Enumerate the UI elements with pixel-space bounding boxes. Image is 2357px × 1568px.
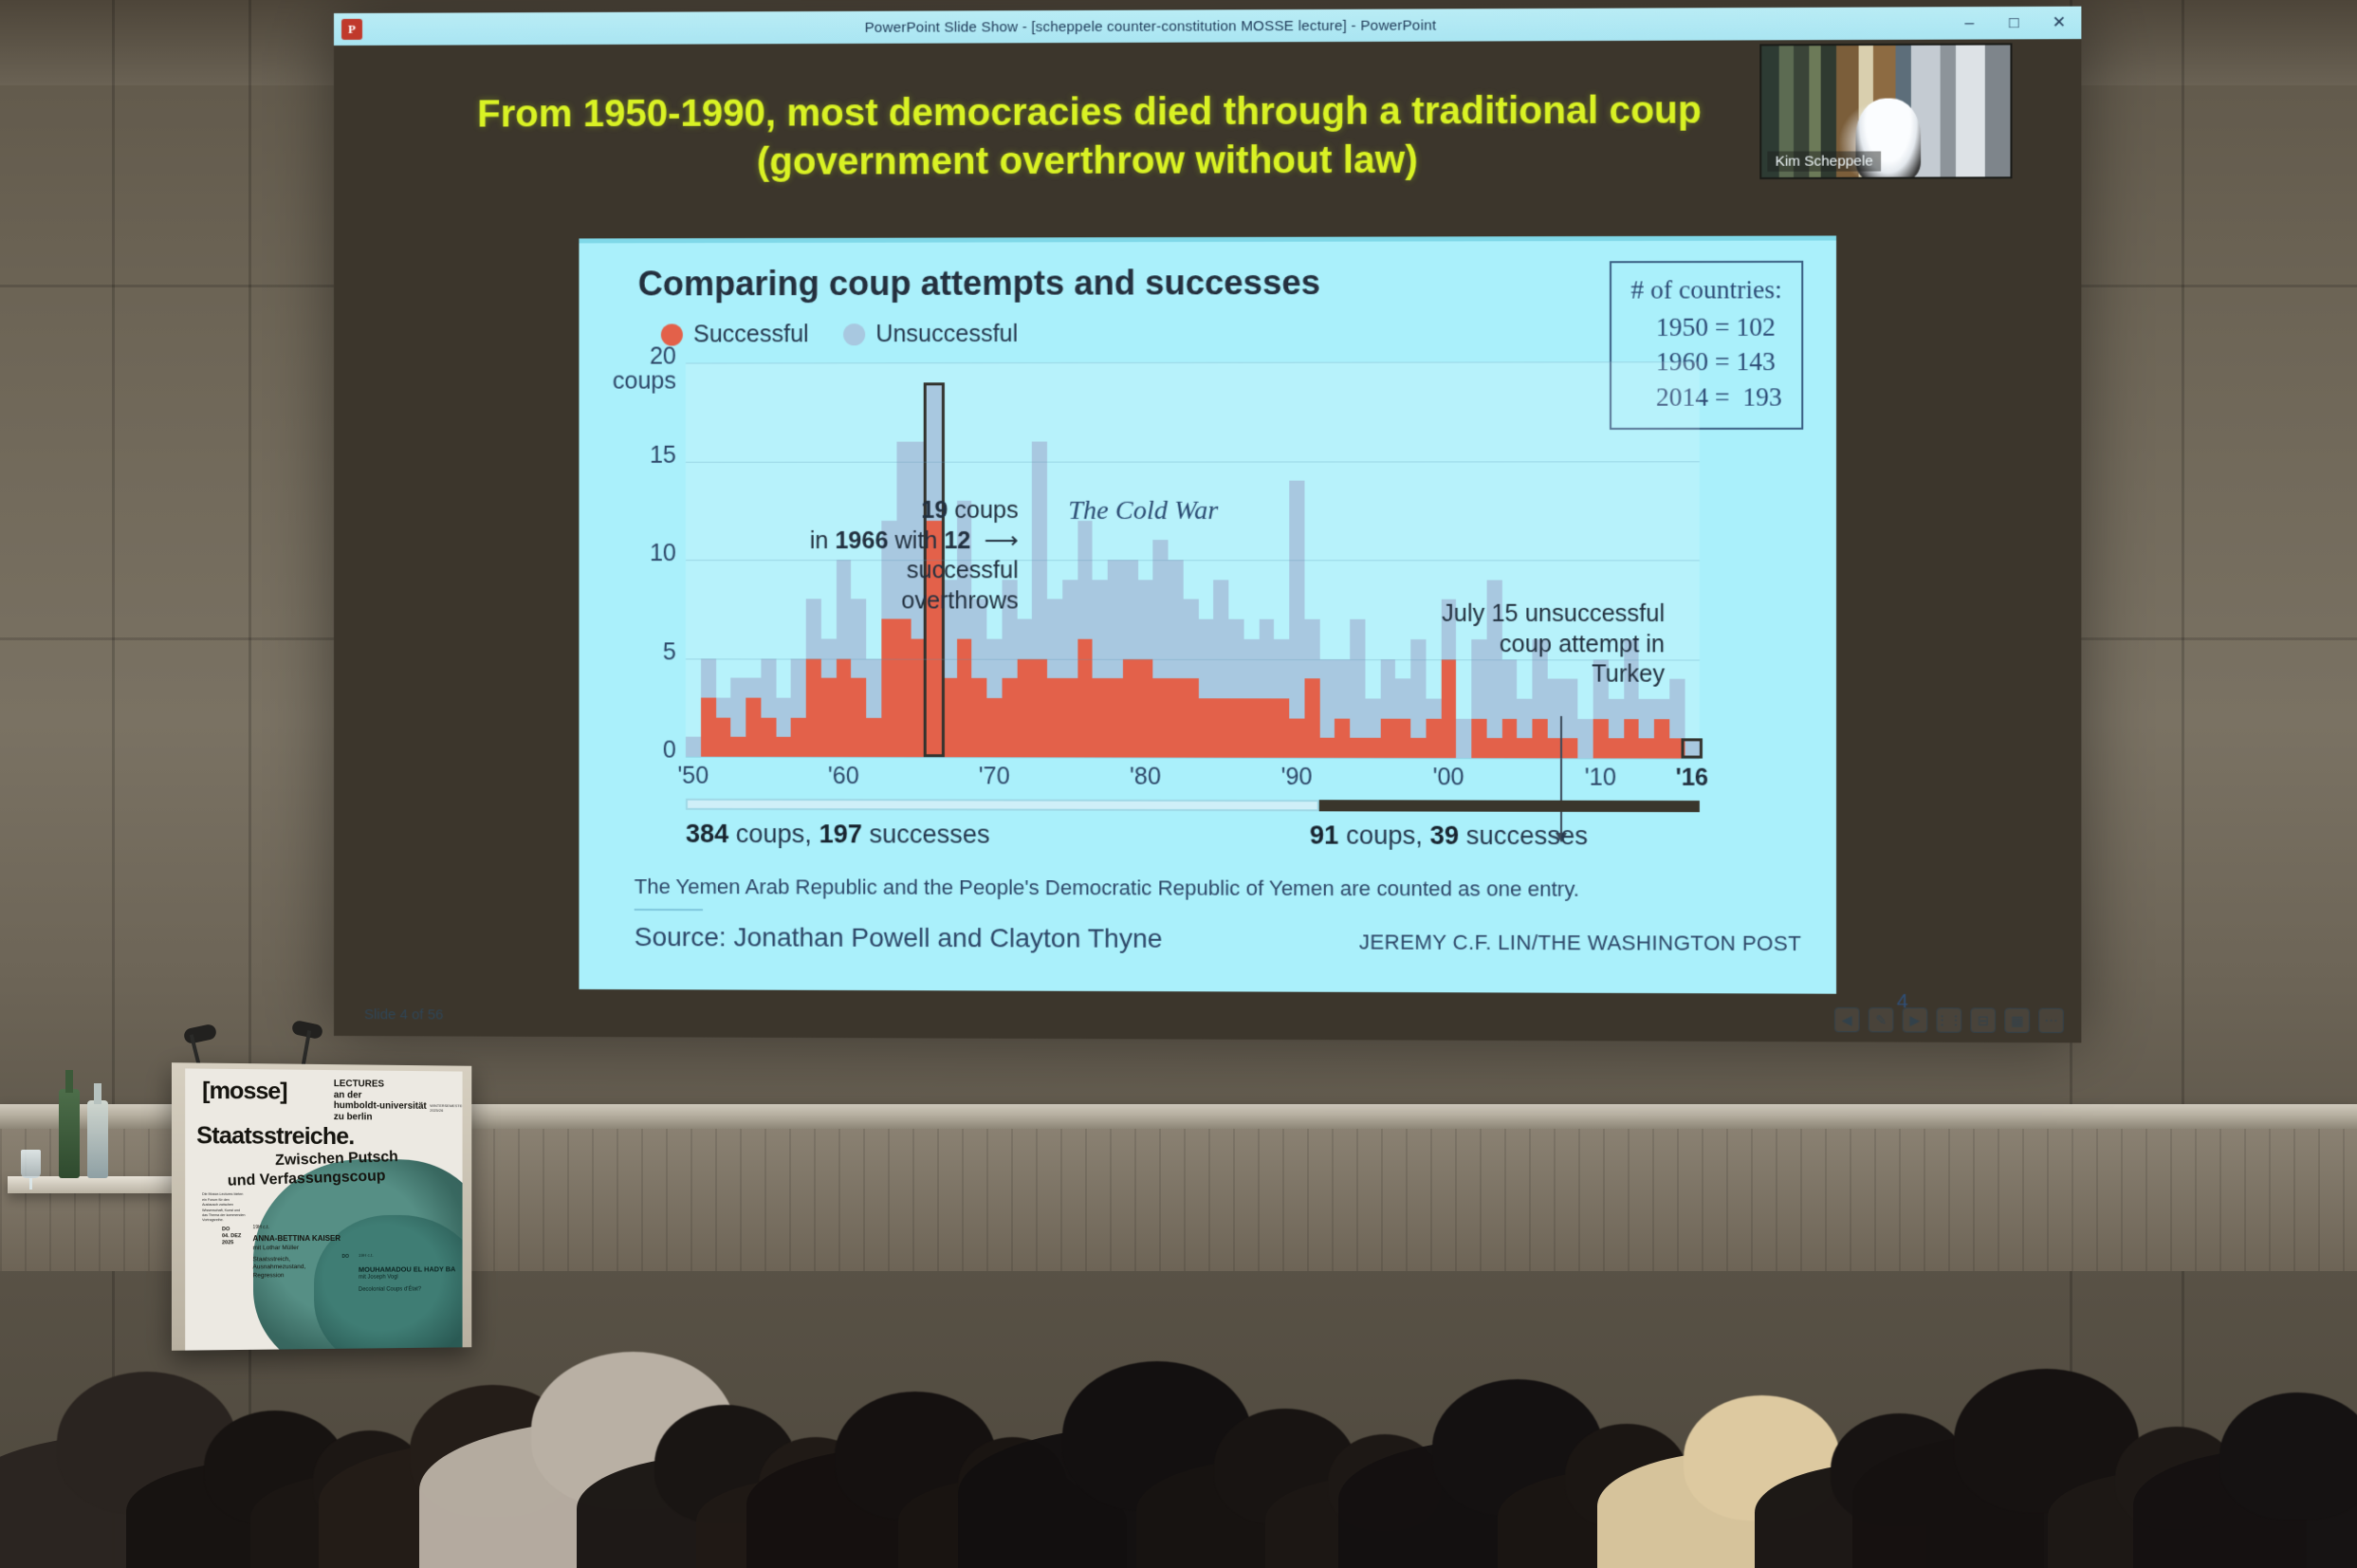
bar-successful	[1017, 658, 1032, 757]
bar-successful	[1609, 739, 1624, 759]
slide-counter: Slide 4 of 56	[364, 1006, 443, 1023]
poster-lectures-line: LECTURES an der humboldt-universität zu …	[334, 1079, 427, 1124]
bar-successful	[866, 717, 881, 757]
bar-successful	[971, 678, 986, 757]
poster-headline: Staatsstreiche.	[196, 1122, 354, 1151]
bar-unsuccessful	[1578, 719, 1593, 759]
bar-successful	[881, 619, 896, 758]
bar-successful	[1501, 718, 1517, 758]
x-axis-tick: '00	[1432, 764, 1464, 791]
bar-successful	[1259, 698, 1274, 758]
bar-successful	[1032, 658, 1047, 757]
poster-event2-topic: Decolonial Coups d'État?	[359, 1287, 421, 1293]
bar-successful	[1410, 738, 1426, 758]
bar-successful	[1002, 678, 1017, 757]
slide-grid-button[interactable]: ▦	[2004, 1008, 2030, 1033]
poster-semester: WINTERSEMESTER 2025/26	[430, 1104, 462, 1114]
bar-successful	[1108, 678, 1123, 757]
bar-successful	[896, 619, 911, 758]
bottle	[87, 1100, 108, 1178]
bar-successful	[730, 737, 746, 757]
bar-unsuccessful	[1289, 481, 1304, 758]
zoom-out-button[interactable]: ⊟	[1970, 1007, 1996, 1032]
x-axis-tick: '16	[1676, 765, 1708, 792]
poster-blurb: Die Mosse-Lectures bieten ein Forum für …	[202, 1192, 248, 1224]
bar-successful	[1624, 719, 1639, 759]
poster-event2-date: DO	[341, 1254, 348, 1261]
bar-successful	[851, 678, 866, 757]
poster-event1-moderator: mit Lothar Müller	[253, 1245, 300, 1251]
x-axis-tick: '90	[1281, 764, 1313, 791]
bar-successful	[1213, 698, 1228, 758]
poster-event2-moderator: mit Joseph Vogl	[359, 1275, 398, 1281]
bar-successful	[1471, 718, 1486, 758]
speaker-name-label: Kim Scheppele	[1767, 151, 1881, 172]
era-statistics: 384 coups, 197 successes 91 coups, 39 su…	[686, 820, 1700, 857]
x-axis-tick: '70	[979, 763, 1010, 790]
x-axis-tick: '80	[1130, 764, 1161, 791]
slide-menu-button[interactable]: ⋮⋮	[1937, 1007, 1962, 1032]
bar-successful	[957, 638, 972, 757]
y-axis-tick: 0	[584, 737, 675, 762]
more-options-button[interactable]: ⋯	[2038, 1008, 2064, 1033]
slideshow-control-bar[interactable]: ◀ ✎ ▶ ⋮⋮ ⊟ ▦ ⋯	[1834, 1007, 2064, 1033]
bar-successful	[1380, 718, 1395, 758]
bar-successful	[1138, 658, 1153, 757]
bar-successful	[1532, 718, 1547, 758]
era-label-right: 91 coups, 39 successes	[1310, 821, 1588, 851]
webcam-picture-in-picture[interactable]: Kim Scheppele	[1759, 43, 2012, 179]
glass-stem	[29, 1178, 32, 1190]
bar-successful	[701, 697, 716, 756]
bar-successful	[1335, 718, 1350, 758]
wall-panel-divider	[112, 0, 115, 1568]
bar-successful	[1517, 738, 1532, 758]
bar-successful	[716, 717, 731, 757]
wall-panel-divider	[2182, 0, 2184, 1568]
bar-successful	[1319, 738, 1335, 758]
bar-successful	[1183, 678, 1198, 757]
bar-unsuccessful	[686, 737, 701, 757]
x-axis: '50'60'70'80'90'00'10'16	[686, 763, 1700, 797]
event-poster: [mosse] LECTURES an der humboldt-univers…	[185, 1068, 462, 1350]
bar-successful	[1639, 739, 1654, 759]
bar-successful	[1123, 658, 1138, 757]
bottle-neck	[94, 1083, 101, 1104]
chart-card: Comparing coup attempts and successes Su…	[579, 235, 1836, 993]
projection-screen: P PowerPoint Slide Show - [scheppele cou…	[334, 7, 2081, 1043]
era-bar-post-cold-war	[1319, 800, 1700, 812]
chart-footnote: The Yemen Arab Republic and the People's…	[635, 875, 1579, 902]
lectern-podium: [mosse] LECTURES an der humboldt-univers…	[172, 1062, 471, 1351]
bar-successful	[821, 678, 837, 757]
bar-successful	[1198, 698, 1213, 758]
drinking-glass	[21, 1150, 41, 1178]
bar-successful	[1077, 639, 1093, 758]
maximize-button[interactable]: □	[1992, 7, 2036, 40]
x-axis-tick: '50	[677, 763, 709, 790]
bar-unsuccessful	[1685, 739, 1700, 759]
close-button[interactable]: ✕	[2036, 7, 2081, 40]
poster-event2-time: 19H c.t.	[359, 1252, 374, 1257]
bar-successful	[1228, 698, 1243, 758]
poster-event1-date: DO 04. DEZ 2025	[222, 1227, 241, 1247]
chart-credit: JEREMY C.F. LIN/THE WASHINGTON POST	[1359, 930, 1801, 956]
x-axis-tick: '10	[1585, 764, 1616, 791]
bar-successful	[761, 717, 776, 757]
minimize-button[interactable]: –	[1947, 7, 1992, 40]
bar-successful	[942, 678, 957, 757]
footnote-divider	[635, 909, 703, 911]
bar-successful	[1669, 739, 1685, 759]
x-axis-tick: '60	[828, 763, 859, 790]
bar-successful	[1426, 718, 1441, 758]
poster-brand: [mosse]	[202, 1078, 286, 1106]
plot-area: 19 coupsin 1966 with 12 ⟶successfulovert…	[686, 361, 1700, 758]
bar-successful	[1289, 718, 1304, 758]
powerpoint-icon: P	[341, 19, 362, 40]
y-axis: 20coups151050	[584, 360, 675, 759]
bar-successful	[1486, 738, 1501, 758]
poster-event2-speaker: MOUHAMADOU EL HADY BA	[359, 1264, 455, 1273]
y-axis-tick: 10	[584, 541, 675, 565]
bar-successful	[1654, 719, 1669, 759]
slide-heading: From 1950-1990, most democracies died th…	[419, 86, 1760, 188]
bar-successful	[791, 717, 806, 757]
bar-successful	[1365, 738, 1380, 758]
side-table	[8, 1176, 174, 1193]
bottle-neck	[65, 1070, 73, 1093]
bar-successful	[1304, 678, 1319, 757]
bar-unsuccessful	[1350, 619, 1365, 758]
bar-successful	[746, 697, 761, 756]
slide-canvas[interactable]: From 1950-1990, most democracies died th…	[334, 39, 2081, 1042]
window-title: PowerPoint Slide Show - [scheppele count…	[362, 15, 1947, 38]
annotation-turkey: July 15 unsuccessful coup attempt in Tur…	[1423, 600, 1665, 691]
era-bar-cold-war	[686, 799, 1319, 812]
chart-source: Source: Jonathan Powell and Clayton Thyn…	[635, 922, 1163, 954]
bar-successful	[911, 638, 927, 757]
bar-successful	[1274, 698, 1289, 758]
bar-successful	[806, 658, 821, 757]
annotation-1966: 19 coupsin 1966 with 12 ⟶successfulovert…	[799, 496, 1019, 617]
bar-successful	[1169, 678, 1184, 757]
bar-successful	[1153, 678, 1169, 757]
bar-successful	[1243, 698, 1259, 758]
bar-successful	[1593, 719, 1609, 759]
era-label-left: 384 coups, 197 successes	[686, 820, 990, 850]
y-axis-tick: 20coups	[584, 343, 675, 394]
bar-successful	[776, 737, 791, 757]
poster-event1-time: 19H c.t.	[253, 1225, 269, 1230]
cold-war-label: The Cold War	[1068, 496, 1218, 526]
source-credit-row: Source: Jonathan Powell and Clayton Thyn…	[635, 922, 1802, 956]
bar-successful	[1350, 738, 1365, 758]
pen-tool-button[interactable]: ✎	[1869, 1007, 1894, 1032]
previous-slide-button[interactable]: ◀	[1834, 1007, 1860, 1032]
era-timeline-bar	[686, 799, 1700, 812]
bar-successful	[1395, 718, 1410, 758]
poster-event1-topic: Staatsstreich, Ausnahmezustand, Regressi…	[253, 1256, 306, 1282]
bar-unsuccessful	[1456, 718, 1471, 758]
bar-successful	[1062, 678, 1077, 757]
bottle	[59, 1089, 80, 1178]
y-axis-tick: 15	[584, 442, 675, 467]
bar-successful	[1047, 678, 1062, 757]
next-slide-button[interactable]: ▶	[1903, 1007, 1928, 1032]
bar-successful	[1093, 678, 1108, 757]
bar-successful	[836, 658, 851, 757]
poster-event1-speaker: ANNA-BETTINA KAISER	[253, 1234, 341, 1243]
bar-successful	[986, 698, 1002, 757]
y-axis-tick: 5	[584, 639, 675, 664]
bar-successful	[1563, 738, 1578, 758]
